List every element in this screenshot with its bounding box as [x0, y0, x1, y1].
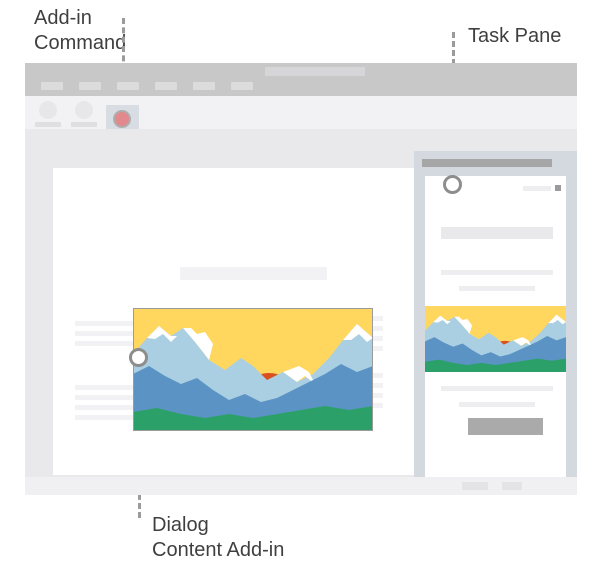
document-heading-placeholder — [180, 267, 327, 280]
scrollbar-corner — [569, 469, 577, 477]
task-pane-mountain-image[interactable] — [425, 306, 566, 372]
task-pane-text-line — [441, 386, 553, 391]
ribbon-tab-1[interactable] — [41, 82, 63, 90]
ribbon-tab-3[interactable] — [117, 82, 139, 90]
ribbon-tab-strip — [25, 63, 577, 96]
task-pane-header-bar — [422, 159, 552, 167]
task-pane-text-line — [441, 270, 553, 275]
task-pane-mountain-svg — [425, 306, 566, 372]
task-pane-text-line — [459, 286, 535, 291]
task-pane-body — [425, 176, 566, 486]
task-pane-text-line — [459, 402, 535, 407]
status-bar-chip[interactable] — [502, 482, 522, 490]
ribbon-group-2[interactable] — [69, 101, 99, 127]
ribbon-group-2-label-placeholder — [71, 122, 97, 127]
status-bar-chip[interactable] — [462, 482, 488, 490]
callout-label-addin-command: Add-in Command — [34, 6, 126, 56]
ribbon-group-1-label-placeholder — [35, 122, 61, 127]
ribbon-tab-2[interactable] — [79, 82, 101, 90]
callout-label-dialog-content-addin: Dialog Content Add-in — [152, 513, 284, 563]
mountain-landscape-image[interactable] — [133, 308, 373, 431]
task-pane[interactable] — [414, 151, 577, 495]
task-pane-content-block — [441, 227, 553, 239]
status-bar — [25, 477, 577, 495]
anchor-circle-task-pane — [443, 175, 462, 194]
window-title-placeholder — [265, 67, 365, 76]
callout-label-task-pane: Task Pane — [468, 24, 561, 49]
mountain-landscape-svg — [133, 308, 373, 431]
ribbon-group-1[interactable] — [33, 101, 63, 127]
ribbon-group-2-icon — [75, 101, 93, 119]
ribbon-group-1-icon — [39, 101, 57, 119]
task-pane-close-icon[interactable] — [555, 185, 561, 191]
ribbon-tab-4[interactable] — [155, 82, 177, 90]
addin-circle-icon — [113, 110, 131, 128]
task-pane-action-button[interactable] — [468, 418, 543, 435]
application-window — [25, 63, 577, 495]
ribbon-tab-5[interactable] — [193, 82, 215, 90]
ribbon-tab-6[interactable] — [231, 82, 253, 90]
anchor-circle-dialog — [129, 348, 148, 367]
task-pane-top-line-placeholder — [523, 186, 551, 191]
